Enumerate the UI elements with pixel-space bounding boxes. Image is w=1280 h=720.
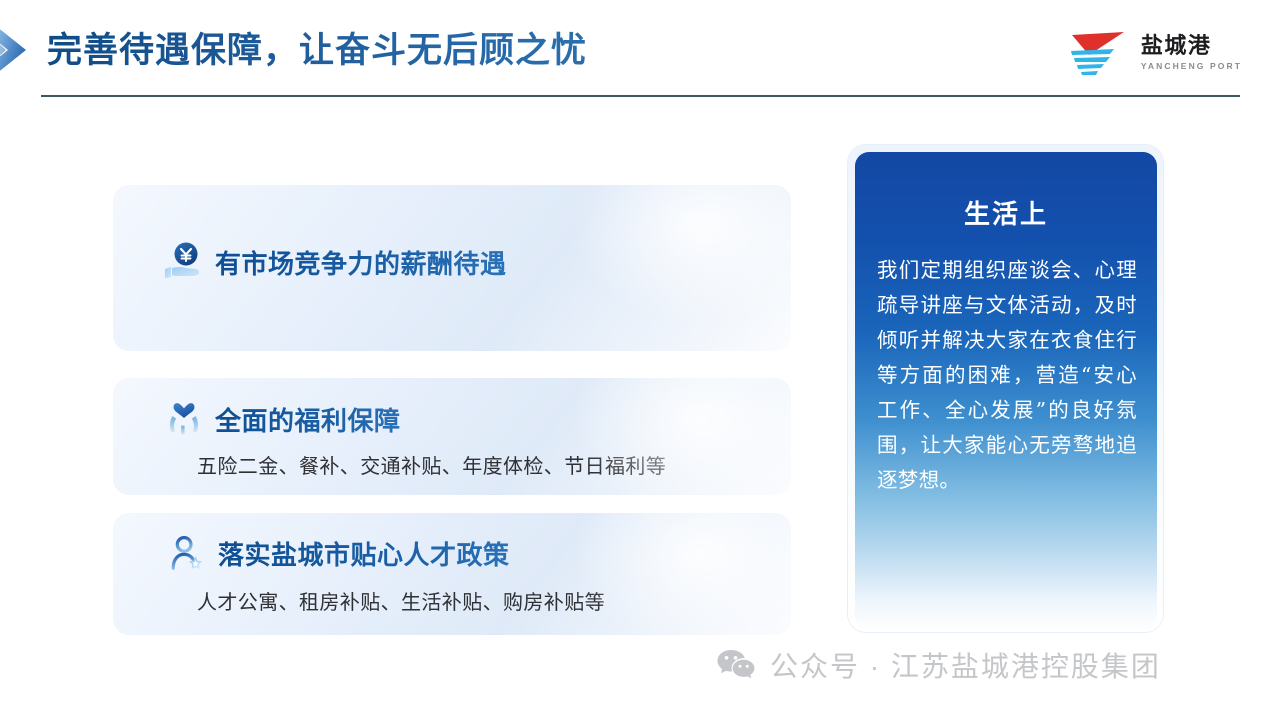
card-header: 全面的福利保障 <box>113 378 791 438</box>
panel-title: 生活上 <box>855 152 1157 231</box>
card-header: 落实盐城市贴心人才政策 <box>113 513 791 572</box>
logo-text-block: 盐城港 YANCHENG PORT <box>1141 35 1242 71</box>
header-divider <box>41 95 1240 97</box>
benefit-card-welfare: 全面的福利保障 五险二金、餐补、交通补贴、年度体检、节日福利等 <box>113 378 791 495</box>
heart-in-hands-icon <box>165 400 203 438</box>
brand-logo: 盐城港 YANCHENG PORT <box>1066 24 1242 82</box>
logo-name-cn: 盐城港 <box>1141 35 1242 57</box>
wechat-icon <box>716 648 756 682</box>
card-subtitle: 五险二金、餐补、交通补贴、年度体检、节日福利等 <box>113 438 791 479</box>
page-title: 完善待遇保障，让奋斗无后顾之忧 <box>47 28 587 74</box>
card-title: 有市场竞争力的薪酬待遇 <box>215 244 507 281</box>
card-title: 落实盐城市贴心人才政策 <box>218 535 510 572</box>
logo-name-en: YANCHENG PORT <box>1141 62 1242 71</box>
slide-root: 完善待遇保障，让奋斗无后顾之忧 盐城港 YANCHENG PORT <box>0 0 1280 720</box>
card-header: 有市场竞争力的薪酬待遇 <box>113 185 791 283</box>
watermark-text: 公众号 · 江苏盐城港控股集团 <box>770 645 1161 685</box>
card-subtitle: 人才公寓、租房补贴、生活补贴、购房补贴等 <box>113 572 791 615</box>
chevron-right-icon <box>0 24 40 76</box>
slide-header: 完善待遇保障，让奋斗无后顾之忧 盐城港 YANCHENG PORT <box>0 0 1280 110</box>
benefit-card-talent-policy: 落实盐城市贴心人才政策 人才公寓、租房补贴、生活补贴、购房补贴等 <box>113 513 791 635</box>
life-panel: 生活上 我们定期组织座谈会、心理疏导讲座与文体活动，及时倾听并解决大家在衣食住行… <box>855 152 1157 630</box>
wechat-watermark: 公众号 · 江苏盐城港控股集团 <box>716 645 1161 685</box>
person-star-badge-icon <box>168 534 206 572</box>
yancheng-port-sail-icon <box>1066 28 1132 78</box>
card-title: 全面的福利保障 <box>215 401 401 438</box>
benefit-card-list: 有市场竞争力的薪酬待遇 <box>113 185 791 635</box>
hand-holding-yen-coin-icon <box>161 241 203 283</box>
benefit-card-salary: 有市场竞争力的薪酬待遇 <box>113 185 791 351</box>
panel-body-text: 我们定期组织座谈会、心理疏导讲座与文体活动，及时倾听并解决大家在衣食住行等方面的… <box>877 253 1137 498</box>
